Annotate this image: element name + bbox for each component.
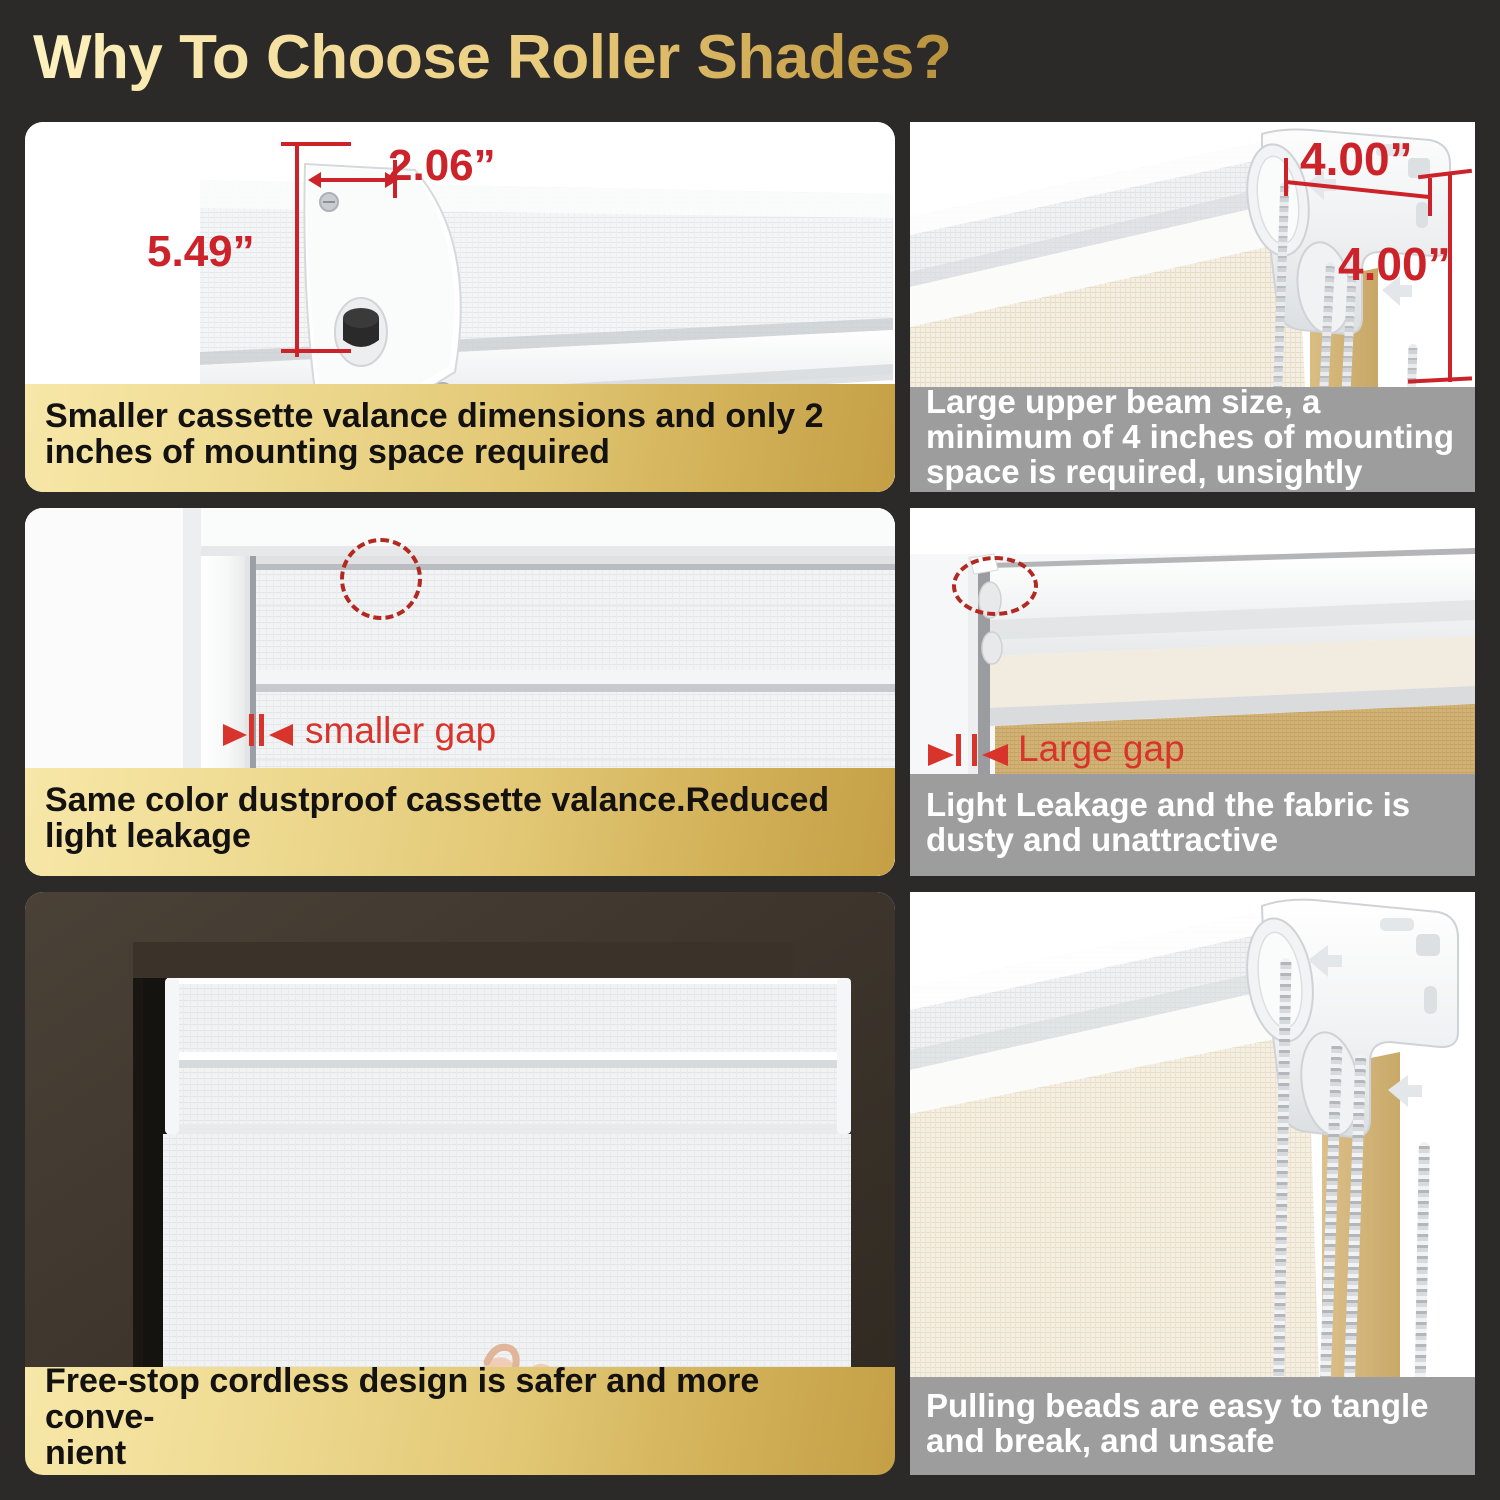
- width-dim-line: [313, 178, 395, 182]
- caption-bad-pulling-beads: Pulling beads are easy to tangle and bre…: [910, 1377, 1475, 1475]
- caption-text: Pulling beads are easy to tangle and bre…: [926, 1389, 1459, 1459]
- gap-highlight-circle-icon: [952, 556, 1038, 616]
- height-dim-tick-bottom: [281, 349, 351, 353]
- gap-arrow-right: [269, 724, 293, 746]
- beam-width-dimension-label: 4.00”: [1300, 132, 1413, 186]
- panel-bad-light-leakage: Large gap Light Leakage and the fabric i…: [910, 508, 1475, 876]
- page-title: Why To Choose Roller Shades?: [33, 22, 951, 93]
- gap-tick-2: [972, 734, 977, 766]
- caption-bad-upper-beam-size: Large upper beam size, a minimum of 4 in…: [910, 387, 1475, 492]
- panel-bad-pulling-beads: Pulling beads are easy to tangle and bre…: [910, 892, 1475, 1475]
- smaller-gap-label: smaller gap: [305, 710, 496, 752]
- caption-text: Same color dustproof cassette valance.Re…: [45, 782, 875, 854]
- caption-bad-light-leakage: Light Leakage and the fabric is dusty an…: [910, 774, 1475, 876]
- panel-good-cordless-design: Free-stop cordless design is safer and m…: [25, 892, 895, 1475]
- width-dim-arrow-left: [308, 172, 321, 188]
- gap-arrow-right: [982, 744, 1008, 766]
- caption-good-cordless-design: Free-stop cordless design is safer and m…: [25, 1367, 895, 1475]
- height-dim-line: [295, 142, 299, 357]
- infographic-page: Why To Choose Roller Shades?: [0, 0, 1500, 1500]
- height-dim-tick-top: [281, 142, 351, 146]
- panel-good-cassette-dimensions: 2.06” 5.49” Smaller cassette valance dim…: [25, 122, 895, 492]
- caption-text: Smaller cassette valance dimensions and …: [45, 398, 875, 470]
- caption-text-line1: Free-stop cordless design is safer and m…: [45, 1363, 875, 1435]
- gap-tick-2: [259, 714, 264, 746]
- beam-width-tick-left: [1284, 158, 1288, 196]
- panel-bad-upper-beam-size: 4.00” 4.00” Large upper beam size, a min…: [910, 122, 1475, 492]
- gap-arrow-left: [928, 744, 954, 766]
- height-dimension-label: 5.49”: [147, 227, 255, 277]
- beam-width-tick-right: [1428, 178, 1432, 216]
- panel-good-dustproof-valance: smaller gap Same color dustproof cassett…: [25, 508, 895, 876]
- width-dimension-label: 2.06”: [388, 141, 496, 191]
- caption-good-cassette-dimensions: Smaller cassette valance dimensions and …: [25, 384, 895, 492]
- gap-tick-1: [249, 714, 254, 746]
- caption-good-dustproof-valance: Same color dustproof cassette valance.Re…: [25, 768, 895, 876]
- gap-highlight-circle-icon: [340, 538, 422, 620]
- gap-tick-1: [956, 734, 961, 766]
- gap-arrow-left: [223, 724, 247, 746]
- caption-text: Light Leakage and the fabric is dusty an…: [926, 788, 1459, 858]
- large-gap-label: Large gap: [1018, 728, 1185, 770]
- caption-text: Large upper beam size, a minimum of 4 in…: [926, 385, 1459, 490]
- beam-height-dimension-label: 4.00”: [1338, 237, 1451, 291]
- caption-text-line2: nient: [45, 1435, 126, 1471]
